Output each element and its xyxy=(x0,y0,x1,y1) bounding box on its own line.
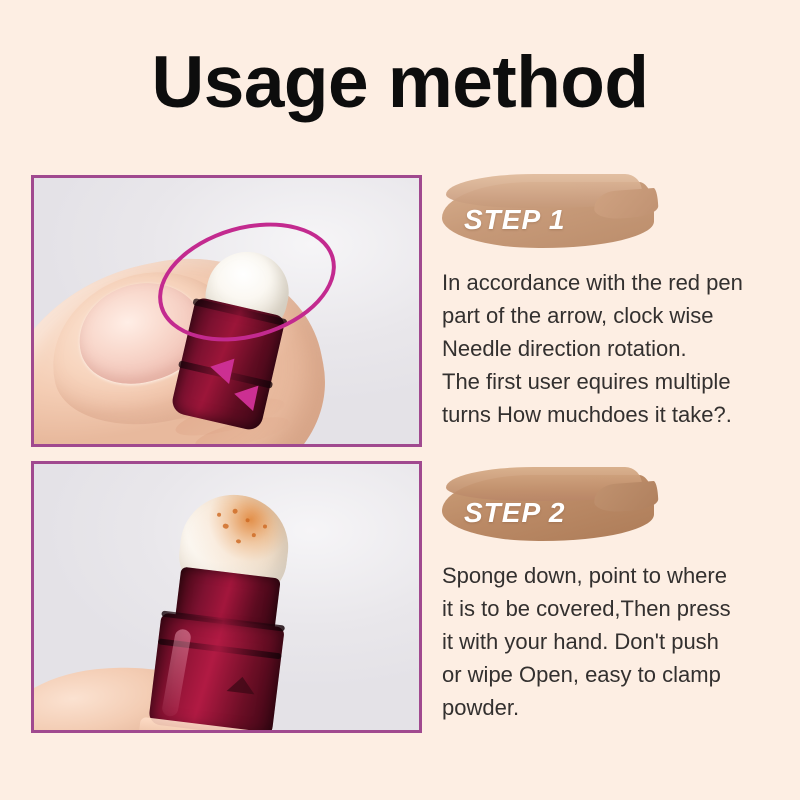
step-1-description: In accordance with the red pen part of t… xyxy=(442,266,786,431)
step-2-photo xyxy=(31,461,422,733)
text-line: powder. xyxy=(442,691,786,724)
text-line: Needle direction rotation. xyxy=(442,332,786,365)
powder-pen-illustration xyxy=(138,486,308,733)
page-title: Usage method xyxy=(0,46,800,119)
step-2-label: STEP 2 xyxy=(464,497,565,529)
step-1-photo xyxy=(31,175,422,447)
text-line: or wipe Open, easy to clamp xyxy=(442,658,786,691)
step-2-description: Sponge down, point to where it is to be … xyxy=(442,559,786,724)
text-line: it is to be covered,Then press xyxy=(442,592,786,625)
step-1-block: STEP 1 In accordance with the red pen pa… xyxy=(442,172,786,431)
pen-notch xyxy=(227,675,257,694)
text-line: In accordance with the red pen xyxy=(442,266,786,299)
usage-method-page: Usage method xyxy=(0,0,800,800)
step-2-block: STEP 2 Sponge down, point to where it is… xyxy=(442,465,786,724)
text-line: part of the arrow, clock wise xyxy=(442,299,786,332)
text-line: Sponge down, point to where xyxy=(442,559,786,592)
text-line: it with your hand. Don't push xyxy=(442,625,786,658)
step-1-swatch: STEP 1 xyxy=(442,172,658,252)
text-line: turns How muchdoes it take?. xyxy=(442,398,786,431)
step-1-label: STEP 1 xyxy=(464,204,565,236)
step-2-swatch: STEP 2 xyxy=(442,465,658,545)
text-line: The first user equires multiple xyxy=(442,365,786,398)
